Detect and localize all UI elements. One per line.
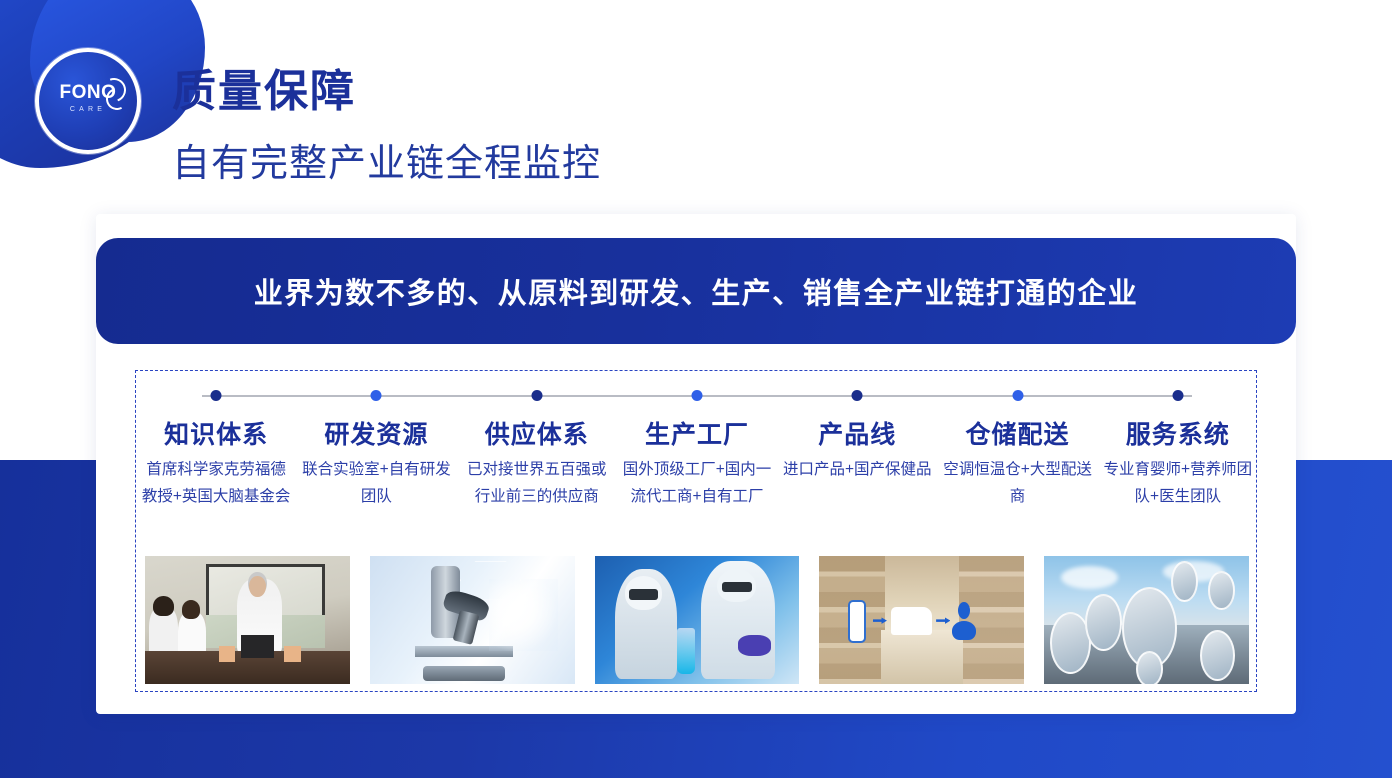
- microscope-photo: [370, 556, 575, 684]
- timeline-step-heading: 知识体系: [136, 415, 296, 451]
- page-subtitle: 自有完整产业链全程监控: [172, 145, 601, 183]
- timeline-step-7[interactable]: 服务系统 专业育婴师+营养师团队+医生团队: [1098, 371, 1258, 541]
- timeline-step-description: 联合实验室+自有研发团队: [300, 457, 452, 510]
- timeline-step-4[interactable]: 生产工厂 国外顶级工厂+国内一流代工商+自有工厂: [617, 371, 777, 541]
- timeline-dot-icon: [1172, 390, 1183, 401]
- warehouse-photo: [819, 556, 1024, 684]
- timeline-step-1[interactable]: 知识体系 首席科学家克劳福德教授+英国大脑基金会: [136, 371, 296, 541]
- timeline-step-heading: 服务系统: [1098, 415, 1258, 451]
- timeline-step-heading: 仓储配送: [937, 415, 1097, 451]
- timeline-step-6[interactable]: 仓储配送 空调恒温仓+大型配送商: [937, 371, 1097, 541]
- timeline-step-heading: 生产工厂: [617, 415, 777, 451]
- timeline-step-description: 空调恒温仓+大型配送商: [941, 457, 1093, 510]
- timeline-dot-icon: [371, 390, 382, 401]
- photo-strip: [145, 556, 1249, 684]
- timeline-dot-icon: [531, 390, 542, 401]
- network-photo: [1044, 556, 1249, 684]
- page-title: 质量保障: [172, 70, 356, 114]
- slide-root: FONO CARE 质量保障 自有完整产业链全程监控 业界为数不多的、从原料到研…: [0, 0, 1392, 778]
- timeline-dot-icon: [211, 390, 222, 401]
- timeline-step-3[interactable]: 供应体系 已对接世界五百强或行业前三的供应商: [457, 371, 617, 541]
- timeline-step-heading: 产品线: [777, 415, 937, 451]
- process-timeline: 知识体系 首席科学家克劳福德教授+英国大脑基金会 研发资源 联合实验室+自有研发…: [136, 371, 1258, 541]
- timeline-step-description: 首席科学家克劳福德教授+英国大脑基金会: [140, 457, 292, 510]
- timeline-step-description: 进口产品+国产保健品: [781, 457, 933, 484]
- timeline-dot-icon: [691, 390, 702, 401]
- logo-tagline: CARE: [35, 106, 141, 113]
- timeline-columns: 知识体系 首席科学家克劳福德教授+英国大脑基金会 研发资源 联合实验室+自有研发…: [136, 371, 1258, 541]
- timeline-step-heading: 研发资源: [296, 415, 456, 451]
- timeline-step-description: 专业育婴师+营养师团队+医生团队: [1102, 457, 1254, 510]
- lecture-photo: [145, 556, 350, 684]
- timeline-step-2[interactable]: 研发资源 联合实验室+自有研发团队: [296, 371, 456, 541]
- timeline-step-heading: 供应体系: [457, 415, 617, 451]
- headline-banner-text: 业界为数不多的、从原料到研发、生产、销售全产业链打通的企业: [254, 270, 1139, 312]
- timeline-step-description: 已对接世界五百强或行业前三的供应商: [461, 457, 613, 510]
- content-card: 业界为数不多的、从原料到研发、生产、销售全产业链打通的企业 知识体系 首席科学家…: [96, 214, 1296, 714]
- headline-banner: 业界为数不多的、从原料到研发、生产、销售全产业链打通的企业: [96, 238, 1296, 344]
- timeline-dot-icon: [1012, 390, 1023, 401]
- dashed-content-frame: 知识体系 首席科学家克劳福德教授+英国大脑基金会 研发资源 联合实验室+自有研发…: [135, 370, 1257, 692]
- lab-workers-photo: [595, 556, 800, 684]
- timeline-dot-icon: [852, 390, 863, 401]
- brand-logo: FONO CARE: [35, 48, 141, 154]
- timeline-step-5[interactable]: 产品线 进口产品+国产保健品: [777, 371, 937, 541]
- timeline-step-description: 国外顶级工厂+国内一流代工商+自有工厂: [621, 457, 773, 510]
